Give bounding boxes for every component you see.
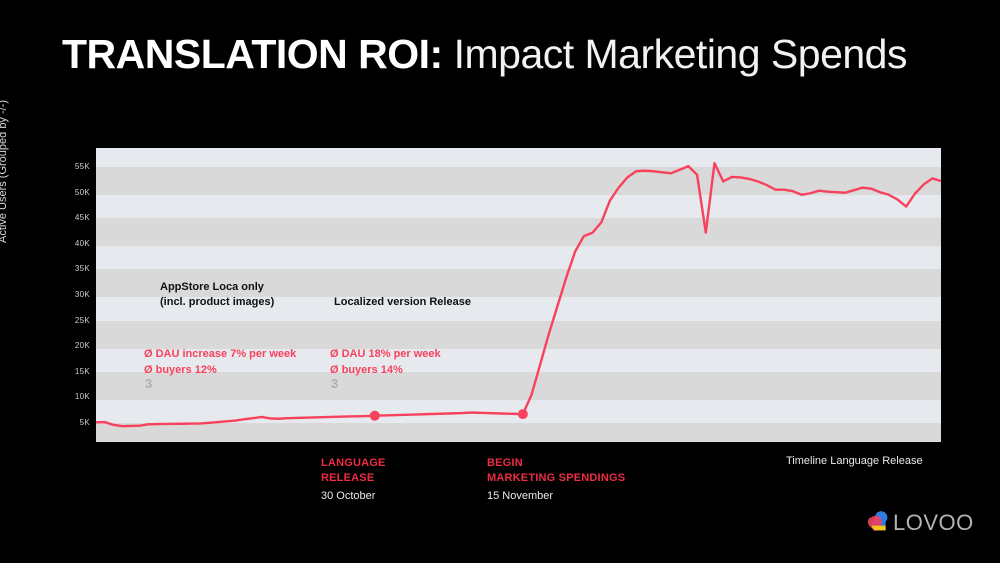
chart-plot-area: AppStore Loca only (incl. product images… (96, 148, 941, 442)
y-axis-tick-label: 55K (44, 162, 90, 171)
page-title: TRANSLATION ROI: Impact Marketing Spends (62, 28, 907, 80)
chart-metric-right-line1: Ø DAU 18% per week (330, 346, 441, 362)
y-axis-ticks: 55K50K45K40K35K30K25K20K15K10K5K (42, 148, 90, 442)
event-begin-marketing-head2: MARKETING SPENDINGS (487, 471, 625, 486)
y-axis-title: Active Users (Grouped by -/-) (0, 43, 9, 243)
y-axis-tick-label: 25K (44, 316, 90, 325)
lovoo-heart-icon (862, 509, 890, 537)
chart-note-appstore-loca-line2: (incl. product images) (160, 295, 274, 310)
y-axis-tick-label: 30K (44, 290, 90, 299)
y-axis-tick-label: 10K (44, 392, 90, 401)
event-begin-marketing: BEGIN MARKETING SPENDINGS 15 November (487, 456, 625, 504)
chart-metric-left: Ø DAU increase 7% per week Ø buyers 12% (144, 346, 296, 378)
y-axis-tick-label: 15K (44, 367, 90, 376)
y-axis-tick-label: 5K (44, 418, 90, 427)
chart-note-localized-release-line1: Localized version Release (334, 295, 471, 310)
chart-note-appstore-loca-line1: AppStore Loca only (160, 280, 274, 295)
watermark-number-right: 3 (331, 377, 338, 390)
y-axis-tick-label: 45K (44, 213, 90, 222)
series-marker-dot (370, 411, 380, 421)
y-axis-tick-label: 20K (44, 341, 90, 350)
timeline-caption: Timeline Language Release (786, 455, 923, 467)
lovoo-wordmark: LOVOO (893, 511, 974, 535)
chart-metric-left-line2: Ø buyers 12% (144, 362, 296, 378)
y-axis-tick-label: 35K (44, 264, 90, 273)
chart-note-localized-release: Localized version Release (334, 295, 471, 310)
y-axis-tick-label: 40K (44, 239, 90, 248)
chart-metric-left-line1: Ø DAU increase 7% per week (144, 346, 296, 362)
page-title-bold: TRANSLATION ROI: (62, 31, 443, 77)
event-begin-marketing-date: 15 November (487, 488, 625, 504)
event-language-release-date: 30 October (321, 488, 386, 504)
chart-metric-right-line2: Ø buyers 14% (330, 362, 441, 378)
event-begin-marketing-head1: BEGIN (487, 456, 625, 471)
chart-note-appstore-loca: AppStore Loca only (incl. product images… (160, 280, 274, 310)
lovoo-logo: LOVOO (862, 507, 948, 539)
event-language-release-head2: RELEASE (321, 471, 386, 486)
page-title-light: Impact Marketing Spends (443, 31, 907, 77)
series-marker-dot (518, 409, 528, 419)
chart-metric-right: Ø DAU 18% per week Ø buyers 14% (330, 346, 441, 378)
y-axis-tick-label: 50K (44, 188, 90, 197)
event-language-release: LANGUAGE RELEASE 30 October (321, 456, 386, 504)
event-language-release-head1: LANGUAGE (321, 456, 386, 471)
watermark-number-left: 3 (145, 377, 152, 390)
